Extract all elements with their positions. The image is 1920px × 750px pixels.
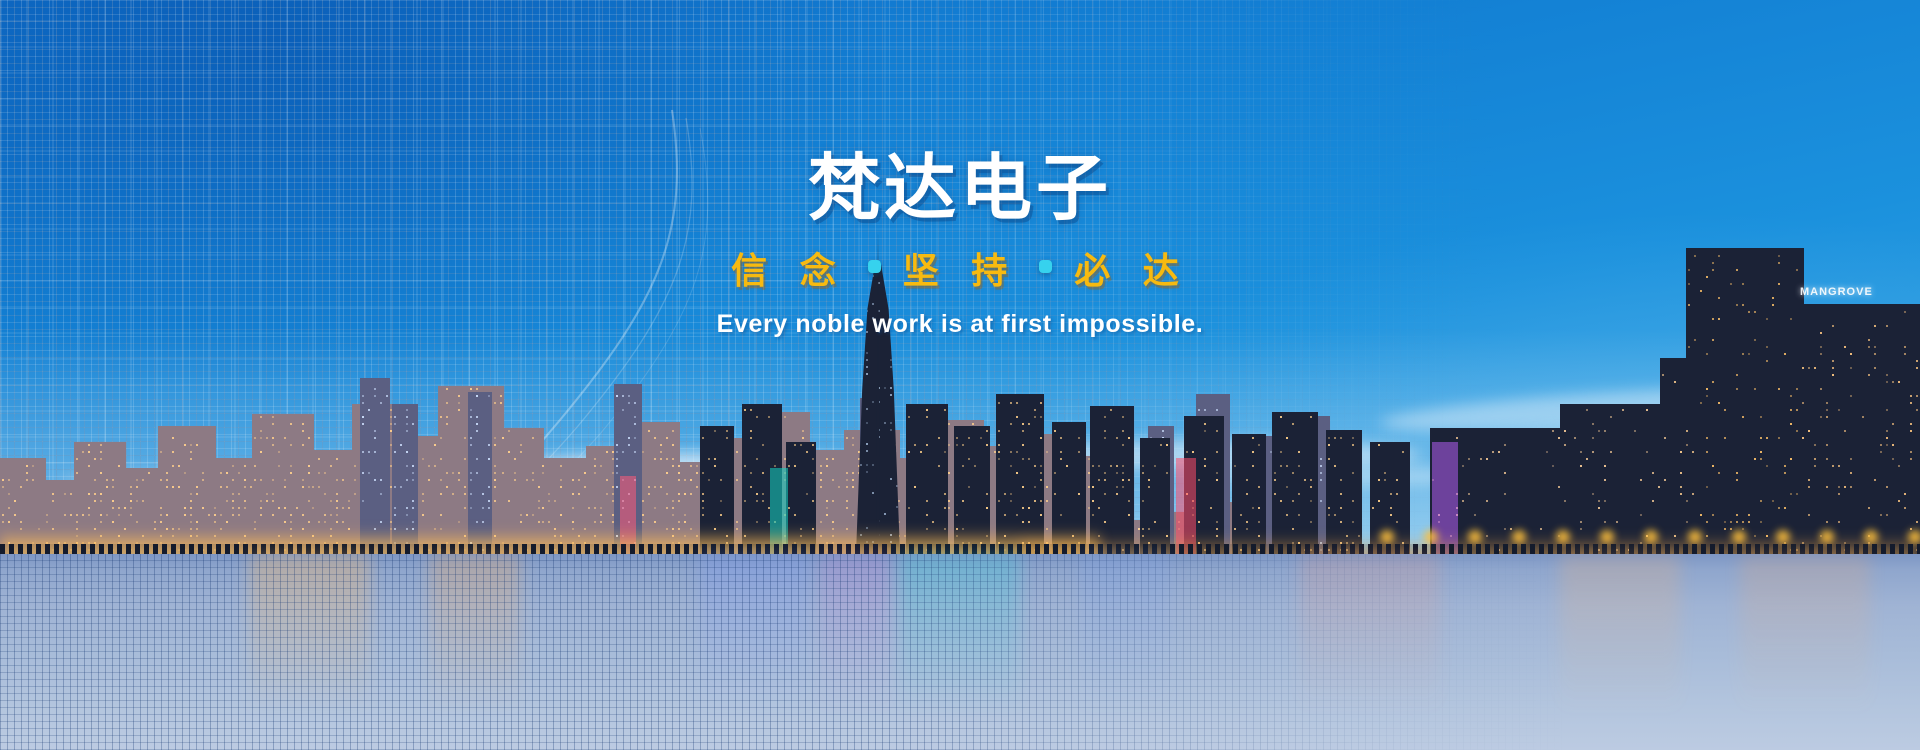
sky-gradient (0, 0, 1920, 750)
hero-banner: MANGROVE 梵达电子 信 念 坚 持 必 达 Every noble wo… (0, 0, 1920, 750)
